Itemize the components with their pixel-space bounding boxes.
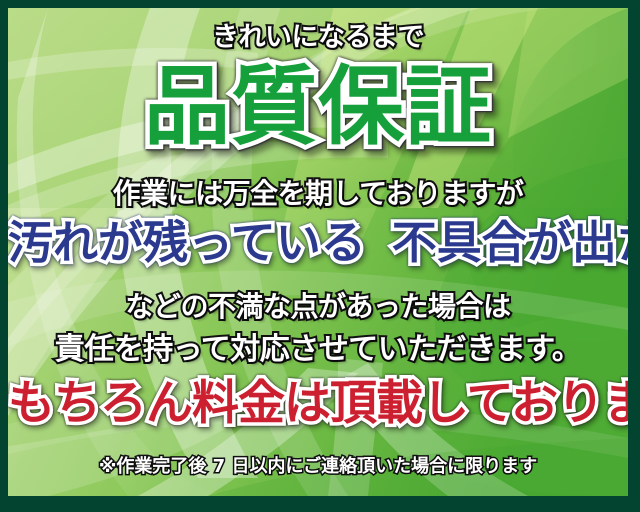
footnote-text: ※作業完了後 7 日以内にご連絡頂いた場合に限ります: [8, 458, 628, 476]
guarantee-poster: きれいになるまで 品質保証 作業には万全を期しておりますが 汚れが残っている不具…: [0, 0, 640, 512]
body-text-2: 責任を持って対応させていただきます。: [8, 335, 628, 365]
poster-copy: きれいになるまで 品質保証 作業には万全を期しておりますが 汚れが残っている不具…: [8, 8, 628, 496]
lead-text: 作業には万全を期しておりますが: [8, 180, 628, 208]
body-text-1: などの不満な点があった場合は: [8, 293, 628, 321]
problem-statements: 汚れが残っている不具合が出た: [8, 220, 628, 265]
problem-stain: 汚れが残っている: [8, 216, 366, 269]
headline-quality-guarantee: 品質保証: [8, 64, 628, 150]
emphasis-no-charge: もちろん料金は頂載しておりません: [8, 380, 628, 427]
kicker-text: きれいになるまで: [8, 24, 628, 51]
problem-defect: 不具合が出た: [392, 216, 628, 269]
